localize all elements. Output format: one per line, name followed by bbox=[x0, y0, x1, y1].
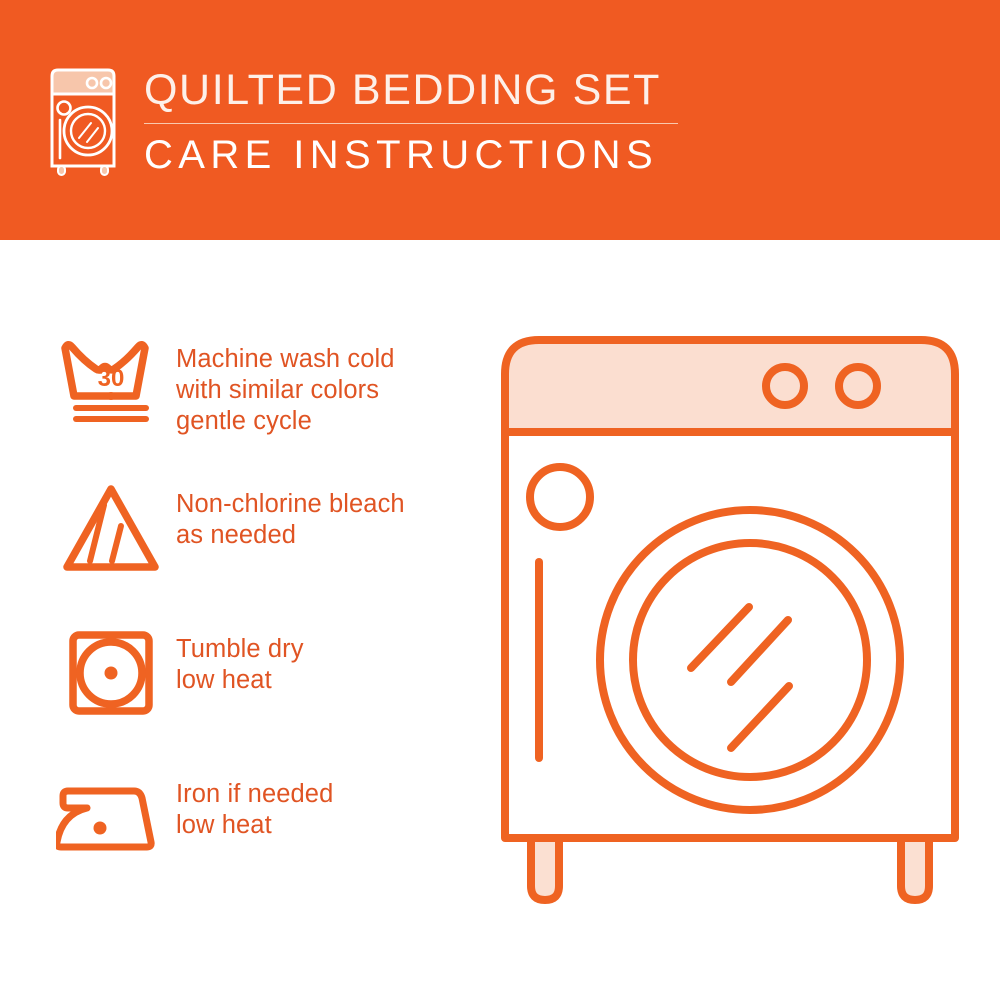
care-text-machine-wash: Machine wash cold with similar colors ge… bbox=[176, 330, 395, 437]
control-panel bbox=[505, 340, 955, 432]
non-chlorine-bleach-triangle-icon bbox=[59, 481, 163, 577]
care-line: gentle cycle bbox=[176, 406, 395, 437]
care-symbol-wrapper: 30 bbox=[46, 330, 176, 432]
front-load-washing-machine-illustration bbox=[495, 330, 965, 930]
drum-streak-2 bbox=[731, 620, 788, 682]
care-line: Machine wash cold bbox=[176, 344, 395, 375]
low-heat-dot bbox=[94, 822, 107, 835]
care-row-iron: Iron if needed low heat bbox=[46, 765, 476, 910]
care-line: as needed bbox=[176, 520, 405, 551]
care-text-iron: Iron if needed low heat bbox=[176, 765, 333, 841]
leg-left bbox=[531, 838, 559, 900]
low-heat-dot bbox=[105, 667, 118, 680]
care-line: with similar colors bbox=[176, 375, 395, 406]
care-line: low heat bbox=[176, 665, 304, 696]
wash-tub-30-gentle-icon: 30 bbox=[59, 336, 163, 432]
iron-low-heat-icon bbox=[56, 771, 166, 857]
wash-temperature-label: 30 bbox=[98, 365, 125, 392]
drum-streak-3 bbox=[731, 686, 789, 748]
care-instructions-list: 30 Machine wash cold with similar colors… bbox=[46, 330, 476, 910]
header-content: QUILTED BEDDING SET CARE INSTRUCTIONS bbox=[46, 66, 678, 178]
header-banner: QUILTED BEDDING SET CARE INSTRUCTIONS bbox=[0, 0, 1000, 240]
care-symbol-wrapper bbox=[46, 765, 176, 857]
page-title-secondary: CARE INSTRUCTIONS bbox=[144, 132, 678, 178]
gentle-dot bbox=[107, 392, 115, 400]
care-line: Iron if needed bbox=[176, 779, 333, 810]
indicator-circle bbox=[530, 467, 590, 527]
care-symbol-wrapper bbox=[46, 475, 176, 577]
title-block: QUILTED BEDDING SET CARE INSTRUCTIONS bbox=[144, 66, 678, 178]
care-symbol-wrapper bbox=[46, 620, 176, 722]
drum-streak-1 bbox=[691, 607, 749, 668]
title-divider bbox=[144, 123, 678, 124]
care-row-machine-wash: 30 Machine wash cold with similar colors… bbox=[46, 330, 476, 475]
care-text-tumble-dry: Tumble dry low heat bbox=[176, 620, 304, 696]
care-row-tumble-dry: Tumble dry low heat bbox=[46, 620, 476, 765]
care-line: low heat bbox=[176, 810, 333, 841]
care-line: Tumble dry bbox=[176, 634, 304, 665]
care-text-bleach: Non-chlorine bleach as needed bbox=[176, 475, 405, 551]
washing-machine-icon bbox=[46, 66, 120, 178]
tumble-dry-low-heat-icon bbox=[59, 626, 163, 722]
leg-right bbox=[901, 838, 929, 900]
care-row-bleach: Non-chlorine bleach as needed bbox=[46, 475, 476, 620]
page-title-primary: QUILTED BEDDING SET bbox=[144, 66, 678, 114]
care-line: Non-chlorine bleach bbox=[176, 489, 405, 520]
